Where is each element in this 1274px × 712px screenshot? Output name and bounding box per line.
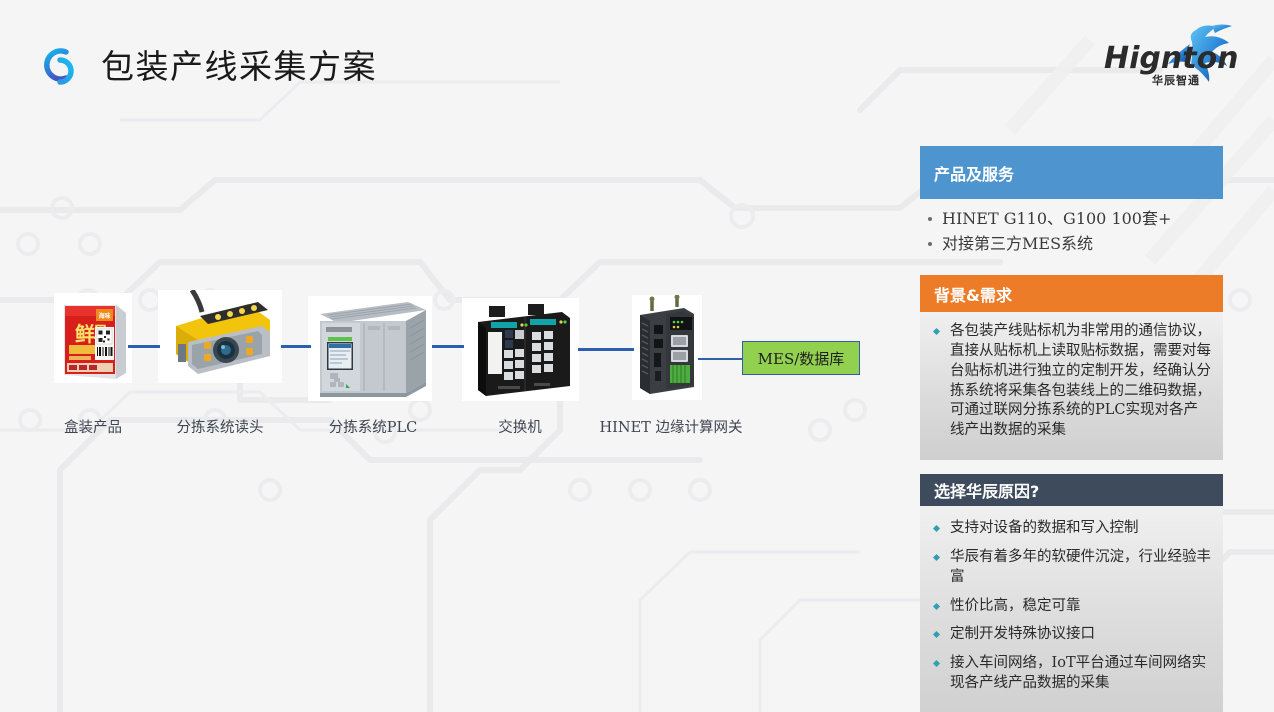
flow-node-label: 盒装产品 — [38, 416, 148, 437]
list-item: 接入车间网络，IoT平台通过车间网络实现各产线产品数据的采集 — [930, 654, 1211, 693]
connector-reader-to-plc — [281, 345, 311, 348]
panel-body-products-services: HINET G110、G100 100套+ 对接第三方MES系统 — [920, 199, 1223, 263]
list-item: 支持对设备的数据和写入控制 — [930, 519, 1211, 539]
list-item: 华辰有着多年的软硬件沉淀，行业经验丰富 — [930, 548, 1211, 587]
panel-header-why-choose-hignton: 选择华辰原因? — [920, 474, 1223, 506]
list-item: 性价比高，稳定可靠 — [930, 597, 1211, 617]
panel-body-why-choose-hignton: 支持对设备的数据和写入控制 华辰有着多年的软硬件沉淀，行业经验丰富 性价比高，稳… — [920, 506, 1223, 712]
connector-plc-to-switch — [432, 345, 464, 348]
flow-node-label: HINET 边缘计算网关 — [586, 416, 756, 437]
flow-node-label: 分拣系统PLC — [310, 416, 436, 437]
yellow-barcode-reader-photo — [158, 290, 282, 383]
panel-title: 选择华辰原因? — [934, 478, 1039, 502]
hinet-edge-gateway-photo — [632, 295, 702, 400]
panel-title: 背景&需求 — [934, 282, 1012, 306]
interlocking-rings-icon — [34, 38, 90, 94]
siemens-plc-photo — [308, 296, 432, 401]
list-item: 各包装产线贴标机为非常用的通信协议，直接从贴标机上读取贴标数据，需要对每台贴标机… — [930, 322, 1211, 440]
logo-wordmark: Hignton — [1104, 41, 1239, 76]
svg-text:鲜: 鲜 — [75, 322, 95, 346]
panel-header-background-requirements: 背景&需求 — [920, 275, 1223, 312]
connector-product-to-reader — [128, 345, 160, 348]
panel-background-requirements: 背景&需求 各包装产线贴标机为非常用的通信协议，直接从贴标机上读取贴标数据，需要… — [920, 275, 1223, 460]
background-requirements-list: 各包装产线贴标机为非常用的通信协议，直接从贴标机上读取贴标数据，需要对每台贴标机… — [930, 322, 1211, 440]
panel-header-products-services: 产品及服务 — [920, 146, 1223, 199]
panel-title: 产品及服务 — [934, 161, 1014, 185]
page-title: 包装产线采集方案 — [101, 40, 377, 88]
flow-node-label: 分拣系统读头 — [160, 416, 280, 437]
panel-why-choose-hignton: 选择华辰原因? 支持对设备的数据和写入控制 华辰有着多年的软硬件沉淀，行业经验丰… — [920, 474, 1223, 712]
mes-database-label: MES/数据库 — [758, 348, 845, 369]
panel-body-background-requirements: 各包装产线贴标机为非常用的通信协议，直接从贴标机上读取贴标数据，需要对每台贴标机… — [920, 312, 1223, 460]
info-panels: 产品及服务 HINET G110、G100 100套+ 对接第三方MES系统 背… — [920, 146, 1223, 712]
industrial-ethernet-switch-photo — [462, 298, 579, 401]
flow-node-label: 交换机 — [470, 416, 570, 437]
logo-subtitle: 华辰智通 — [1152, 73, 1200, 87]
red-packaged-product-photo: 海味 鲜 贝 — [54, 293, 132, 383]
slide-header: 包装产线采集方案 Hignton 华辰智通 — [0, 0, 1274, 118]
products-services-list: HINET G110、G100 100套+ 对接第三方MES系统 — [924, 207, 1219, 255]
svg-text:海味: 海味 — [98, 312, 110, 320]
list-item: HINET G110、G100 100套+ — [924, 207, 1219, 230]
connector-switch-to-gateway — [578, 348, 634, 351]
mes-database-box[interactable]: MES/数据库 — [742, 341, 860, 375]
connector-gateway-to-mes — [698, 358, 746, 360]
panel-products-services: 产品及服务 HINET G110、G100 100套+ 对接第三方MES系统 — [920, 146, 1223, 263]
company-logo: Hignton 华辰智通 — [1100, 24, 1240, 90]
list-item: 定制开发特殊协议接口 — [930, 625, 1211, 645]
why-choose-list: 支持对设备的数据和写入控制 华辰有着多年的软硬件沉淀，行业经验丰富 性价比高，稳… — [930, 519, 1211, 693]
list-item: 对接第三方MES系统 — [924, 232, 1219, 255]
